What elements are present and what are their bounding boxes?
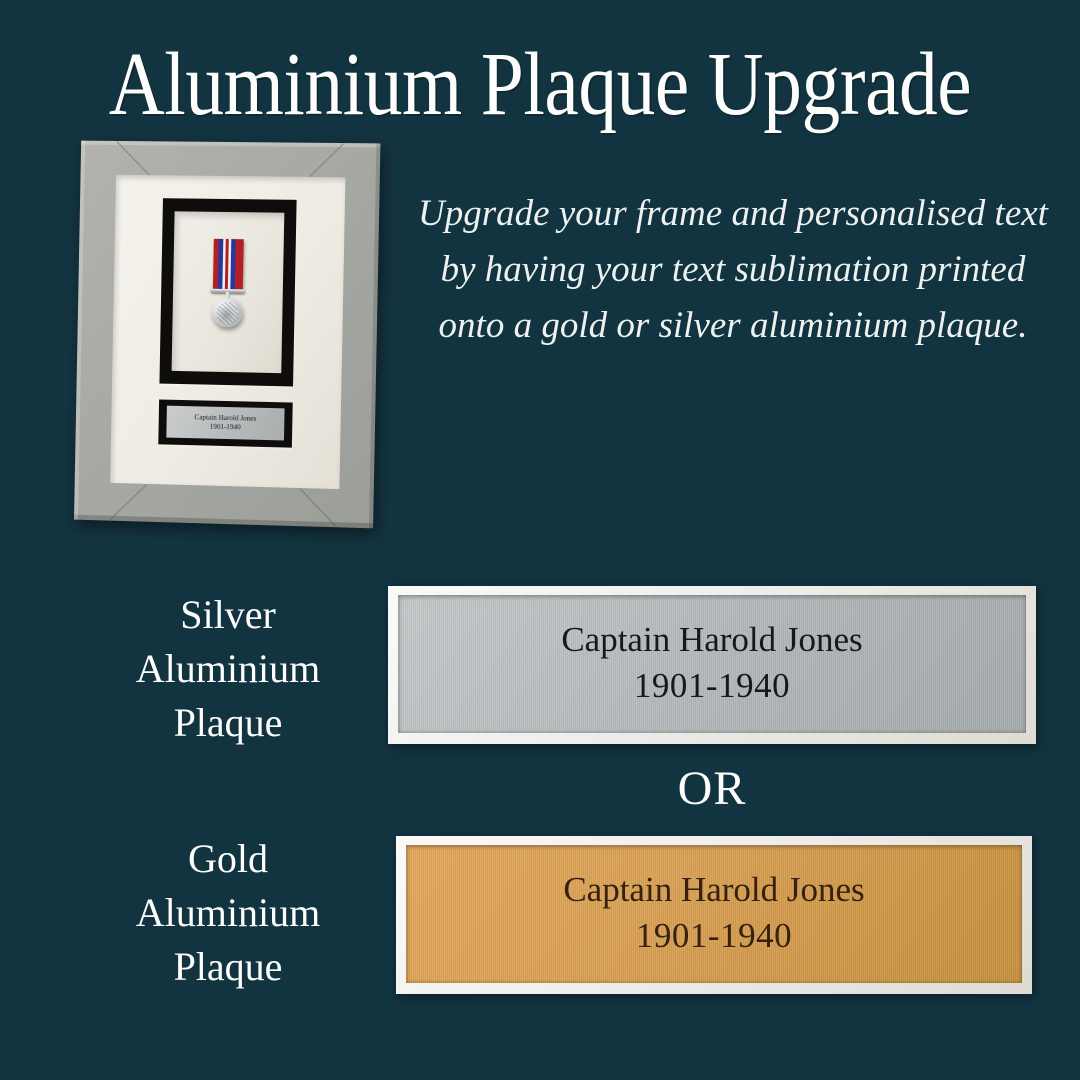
medal-ribbon-icon	[213, 239, 243, 291]
silver-plaque-face: Captain Harold Jones 1901-1940	[398, 595, 1026, 733]
medal-aperture-backing	[172, 212, 284, 374]
silver-option-label: Silver Aluminium Plaque	[78, 588, 378, 750]
gold-option-label-line1: Gold	[78, 832, 378, 886]
or-separator: OR	[612, 760, 812, 818]
description-text: Upgrade your frame and personalised text…	[418, 186, 1048, 354]
gold-option-label-line2: Aluminium	[78, 886, 378, 940]
medal-disc-icon	[212, 298, 242, 328]
frame-mitre-top-left	[117, 141, 153, 179]
silver-option-label-line2: Aluminium	[78, 642, 378, 696]
silver-option-label-line3: Plaque	[78, 696, 378, 750]
frame-mitre-top-right	[306, 143, 344, 180]
promo-graphic: Aluminium Plaque Upgrade	[0, 0, 1080, 1080]
framed-mini-plaque: Captain Harold Jones 1901-1940	[167, 406, 285, 440]
frame-mitre-bottom-left	[109, 484, 147, 520]
framed-medal-photo: Captain Harold Jones 1901-1940	[62, 134, 392, 534]
gold-option-label: Gold Aluminium Plaque	[78, 832, 378, 994]
silver-plaque-line1: Captain Harold Jones	[561, 618, 862, 662]
silver-plaque-sample: Captain Harold Jones 1901-1940	[388, 586, 1036, 744]
silver-option-label-line1: Silver	[78, 588, 378, 642]
gold-plaque-face: Captain Harold Jones 1901-1940	[406, 845, 1022, 983]
engraved-plate-aperture: Captain Harold Jones 1901-1940	[159, 399, 293, 447]
gold-plaque-line2: 1901-1940	[636, 912, 792, 960]
frame-mitre-bottom-right	[300, 488, 337, 527]
gold-plaque-line1: Captain Harold Jones	[563, 868, 864, 912]
silver-plaque-line2: 1901-1940	[634, 662, 790, 710]
framed-mini-plaque-line2: 1901-1940	[210, 423, 241, 433]
page-title: Aluminium Plaque Upgrade	[76, 36, 1005, 134]
picture-frame-moulding: Captain Harold Jones 1901-1940	[74, 141, 380, 529]
gold-plaque-sample: Captain Harold Jones 1901-1940	[396, 836, 1032, 994]
medal-aperture	[160, 198, 297, 386]
gold-option-label-line3: Plaque	[78, 940, 378, 994]
frame-mount-board: Captain Harold Jones 1901-1940	[110, 175, 345, 489]
